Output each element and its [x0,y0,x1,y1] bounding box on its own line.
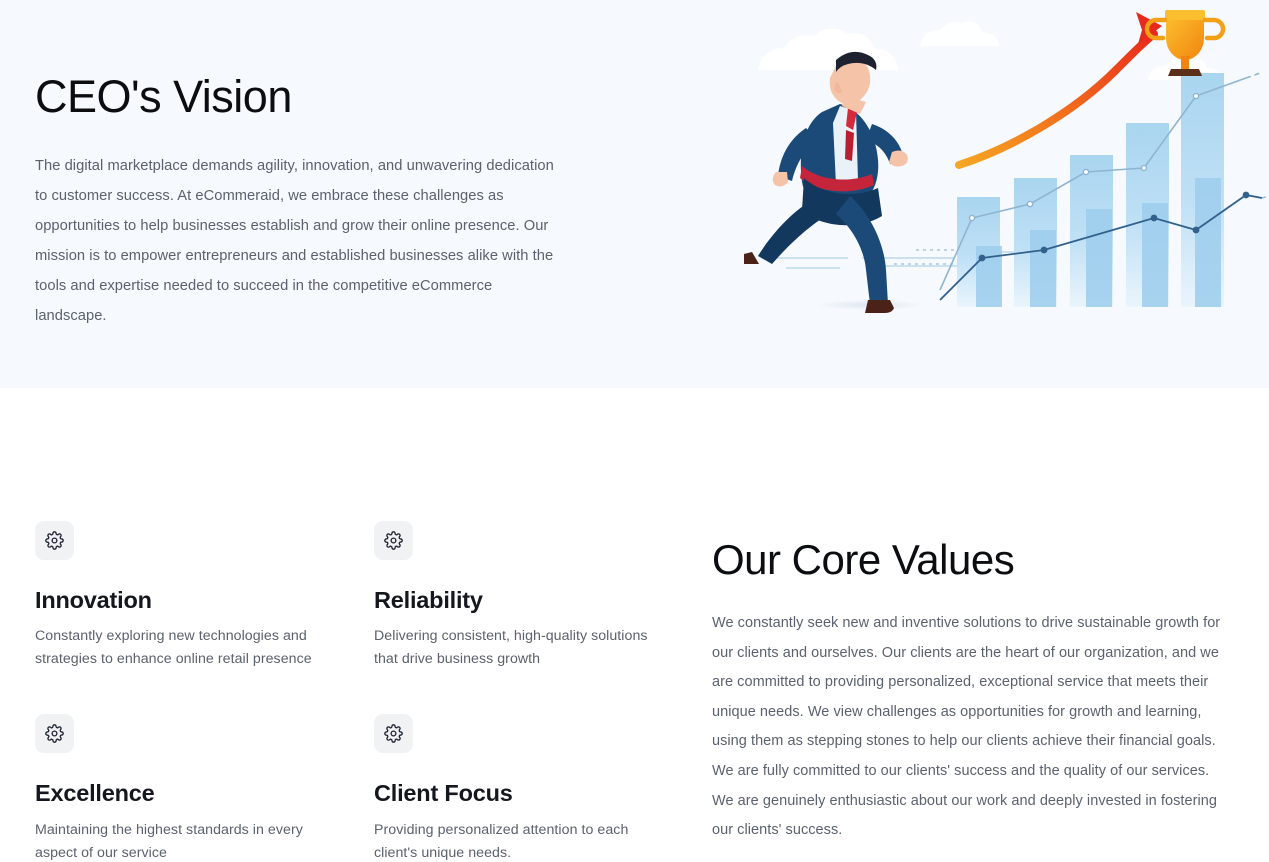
page-title: CEO's Vision [35,72,595,122]
trophy-icon [1147,10,1223,76]
value-card-text: Constantly exploring new technologies an… [35,625,335,671]
hero-copy: CEO's Vision The digital marketplace dem… [35,72,595,332]
gear-icon [35,521,74,560]
value-card-excellence[interactable]: Excellence Maintaining the highest stand… [35,714,335,862]
value-card-title: Reliability [374,586,674,614]
value-card-reliability[interactable]: Reliability Delivering consistent, high-… [374,521,674,671]
core-values-copy: Our Core Values We constantly seek new a… [712,536,1224,846]
value-card-text: Providing personalized attention to each… [374,819,674,862]
bar-chart [957,73,1224,307]
core-values-title: Our Core Values [712,536,1224,583]
value-cards-grid: Innovation Constantly exploring new tech… [35,521,675,862]
cloud-icon [920,21,999,46]
value-card-text: Delivering consistent, high-quality solu… [374,625,674,671]
value-card-title: Client Focus [374,779,674,807]
core-values-section: Innovation Constantly exploring new tech… [0,388,1269,862]
hero-section: CEO's Vision The digital marketplace dem… [0,0,1269,388]
hero-illustration [744,0,1269,340]
running-businessman-illustration [744,52,922,313]
value-card-title: Innovation [35,586,335,614]
value-card-client-focus[interactable]: Client Focus Providing personalized atte… [374,714,674,862]
value-card-text: Maintaining the highest standards in eve… [35,819,335,862]
gear-icon [374,714,413,753]
value-card-innovation[interactable]: Innovation Constantly exploring new tech… [35,521,335,671]
gear-icon [35,714,74,753]
hero-paragraph: The digital marketplace demands agility,… [35,152,555,332]
gear-icon [374,521,413,560]
cloud-icon [758,28,898,70]
core-values-paragraph: We constantly seek new and inventive sol… [712,609,1224,846]
value-card-title: Excellence [35,779,335,807]
